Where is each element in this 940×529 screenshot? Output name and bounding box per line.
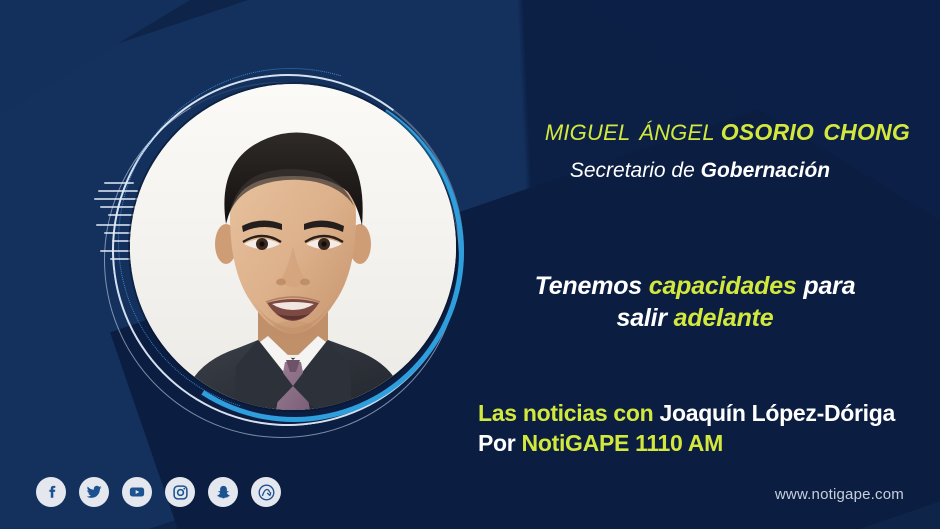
quote-line1-highlight: capacidades [649, 272, 797, 300]
facebook-icon[interactable] [36, 477, 66, 507]
guest-first-name: Miguel Ángel [545, 112, 715, 147]
show-station-prefix: Por [478, 430, 522, 456]
broadcast-graphic-card: Miguel ÁngelOsorio Chong Secretario de G… [0, 0, 940, 529]
quote-line1-part1: Tenemos [535, 272, 649, 300]
radio-app-icon[interactable] [251, 477, 281, 507]
portrait-frame [108, 62, 478, 432]
guest-name: Miguel ÁngelOsorio Chong [545, 112, 910, 146]
guest-role: Secretario de Gobernación [490, 160, 910, 181]
show-credit-prefix: Las noticias con [478, 400, 660, 426]
quote-line2-part1: salir [616, 304, 673, 332]
youtube-icon[interactable] [122, 477, 152, 507]
show-credit: Las noticias con Joaquín López-Dóriga Po… [478, 398, 895, 459]
show-credit-line1: Las noticias con Joaquín López-Dóriga [478, 398, 895, 428]
guest-role-department: Gobernación [701, 159, 831, 182]
instagram-icon[interactable] [165, 477, 195, 507]
snapchat-icon[interactable] [208, 477, 238, 507]
twitter-icon[interactable] [79, 477, 109, 507]
show-host-name: Joaquín López-Dóriga [660, 400, 896, 426]
portrait-photo [130, 84, 456, 410]
show-station-name: NotiGAPE 1110 AM [522, 430, 723, 456]
guest-role-prefix: Secretario de [570, 159, 701, 182]
quote-text: Tenemos capacidades para salir adelante [480, 270, 910, 334]
social-links [36, 477, 281, 507]
quote-line2-highlight: adelante [674, 304, 774, 332]
quote-line1-part2: para [797, 272, 856, 300]
guest-last-name: Osorio Chong [721, 110, 910, 147]
website-url[interactable]: www.notigape.com [775, 486, 904, 503]
show-credit-line2: Por NotiGAPE 1110 AM [478, 428, 895, 458]
